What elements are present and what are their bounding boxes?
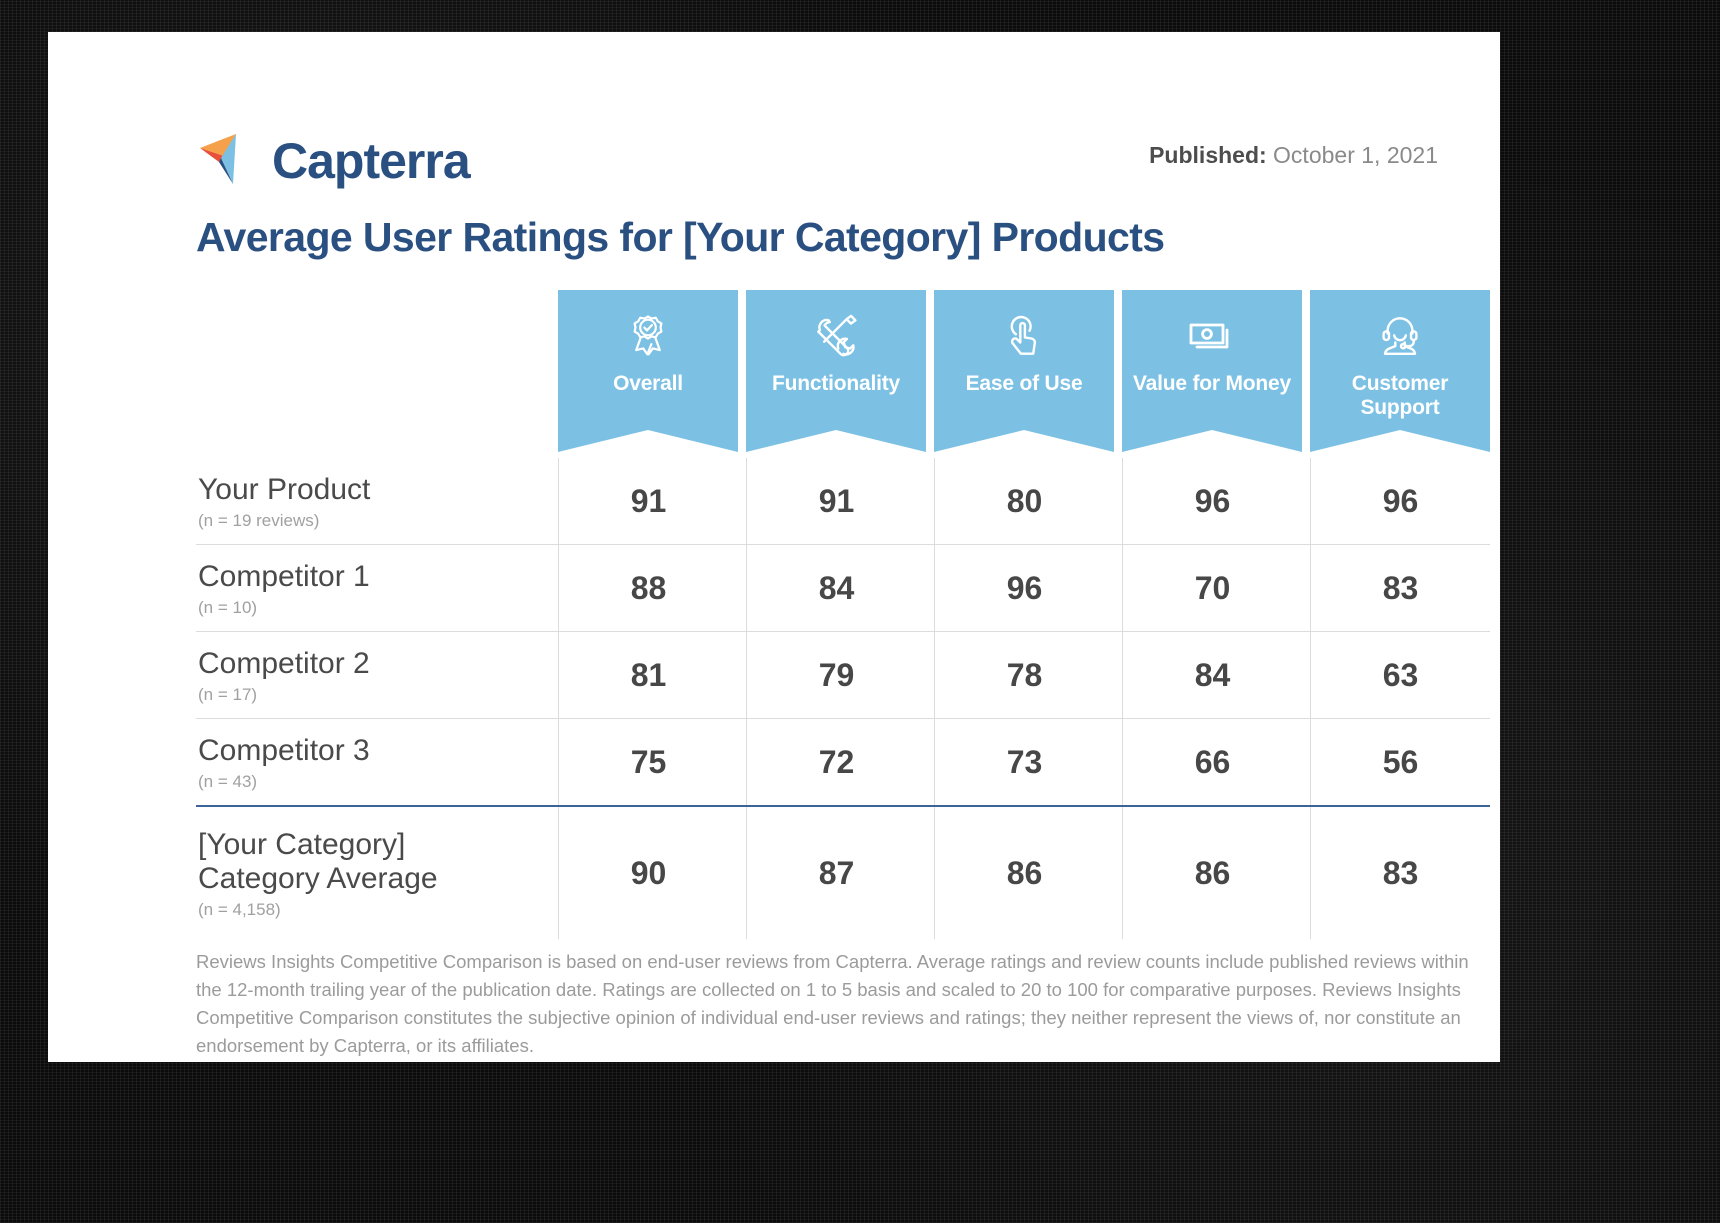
rating-cell-value-for-money: 70 [1122,545,1302,631]
rating-cell-overall: 81 [558,632,738,718]
page-title: Average User Ratings for [Your Category]… [196,214,1164,261]
row-label-cell: Competitor 1 (n = 10) [196,545,558,631]
rating-cell-functionality: 87 [746,807,926,939]
header-spacer [196,290,558,430]
capterra-arrow-icon [196,128,262,194]
brand-name: Capterra [272,136,470,186]
rating-cell-functionality: 72 [746,719,926,805]
row-name: Your Product [198,473,548,507]
rating-cell-ease-of-use: 86 [934,807,1114,939]
column-header-overall: Overall [558,290,738,430]
rating-cell-customer-support: 63 [1310,632,1490,718]
table-row-category-average: [Your Category] Category Average (n = 4,… [196,807,1490,939]
rating-cell-value-for-money: 86 [1122,807,1302,939]
pointer-finger-icon [998,308,1050,366]
rating-cell-overall: 88 [558,545,738,631]
rating-cell-value-for-money: 84 [1122,632,1302,718]
row-name: Competitor 2 [198,647,548,681]
disclaimer-text: Reviews Insights Competitive Comparison … [196,948,1491,1060]
rating-cell-ease-of-use: 73 [934,719,1114,805]
row-review-count: (n = 43) [198,772,548,792]
column-header-label: Ease of Use [966,372,1083,396]
published-date: October 1, 2021 [1273,142,1438,168]
row-name: Competitor 1 [198,560,548,594]
column-header-label: Customer Support [1310,372,1490,419]
column-header-label: Overall [613,372,683,396]
rating-cell-customer-support: 83 [1310,545,1490,631]
ratings-table: Overall Functionality [196,290,1490,939]
column-header-ease-of-use: Ease of Use [934,290,1114,430]
row-label-cell: Competitor 3 (n = 43) [196,719,558,805]
row-label-cell: [Your Category] Category Average (n = 4,… [196,807,558,939]
rating-cell-functionality: 91 [746,458,926,544]
rating-cell-customer-support: 96 [1310,458,1490,544]
row-label-cell: Your Product (n = 19 reviews) [196,458,558,544]
rating-cell-functionality: 79 [746,632,926,718]
rating-cell-overall: 90 [558,807,738,939]
capterra-logo: Capterra [196,128,470,194]
row-review-count: (n = 19 reviews) [198,511,548,531]
column-header-functionality: Functionality [746,290,926,430]
published-info: Published: October 1, 2021 [1149,142,1438,169]
banknotes-icon [1184,308,1240,366]
rating-cell-ease-of-use: 80 [934,458,1114,544]
column-header-value-for-money: Value for Money [1122,290,1302,430]
row-review-count: (n = 4,158) [198,900,548,920]
headset-support-icon [1374,308,1426,366]
table-header-row: Overall Functionality [196,290,1490,430]
table-row: Competitor 3 (n = 43) 75 72 73 66 56 [196,719,1490,807]
row-review-count: (n = 17) [198,685,548,705]
table-row: Competitor 2 (n = 17) 81 79 78 84 63 [196,632,1490,719]
table-row: Competitor 1 (n = 10) 88 84 96 70 83 [196,545,1490,632]
wrench-screwdriver-icon [810,308,862,366]
table-row: Your Product (n = 19 reviews) 91 91 80 9… [196,458,1490,545]
column-header-customer-support: Customer Support [1310,290,1490,430]
column-header-label: Functionality [772,372,900,396]
rating-cell-overall: 75 [558,719,738,805]
rating-cell-ease-of-use: 96 [934,545,1114,631]
rating-cell-value-for-money: 96 [1122,458,1302,544]
row-label-cell: Competitor 2 (n = 17) [196,632,558,718]
report-card: Capterra Published: October 1, 2021 Aver… [48,32,1500,1062]
rating-cell-customer-support: 83 [1310,807,1490,939]
row-name: [Your Category] Category Average [198,828,548,895]
table-body: Your Product (n = 19 reviews) 91 91 80 9… [196,458,1490,939]
row-review-count: (n = 10) [198,598,548,618]
rating-cell-value-for-money: 66 [1122,719,1302,805]
rating-cell-overall: 91 [558,458,738,544]
published-label: Published: [1149,142,1267,168]
ribbon-check-icon [622,308,674,366]
rating-cell-ease-of-use: 78 [934,632,1114,718]
column-header-label: Value for Money [1133,372,1291,396]
row-name: Competitor 3 [198,734,548,768]
rating-cell-customer-support: 56 [1310,719,1490,805]
rating-cell-functionality: 84 [746,545,926,631]
